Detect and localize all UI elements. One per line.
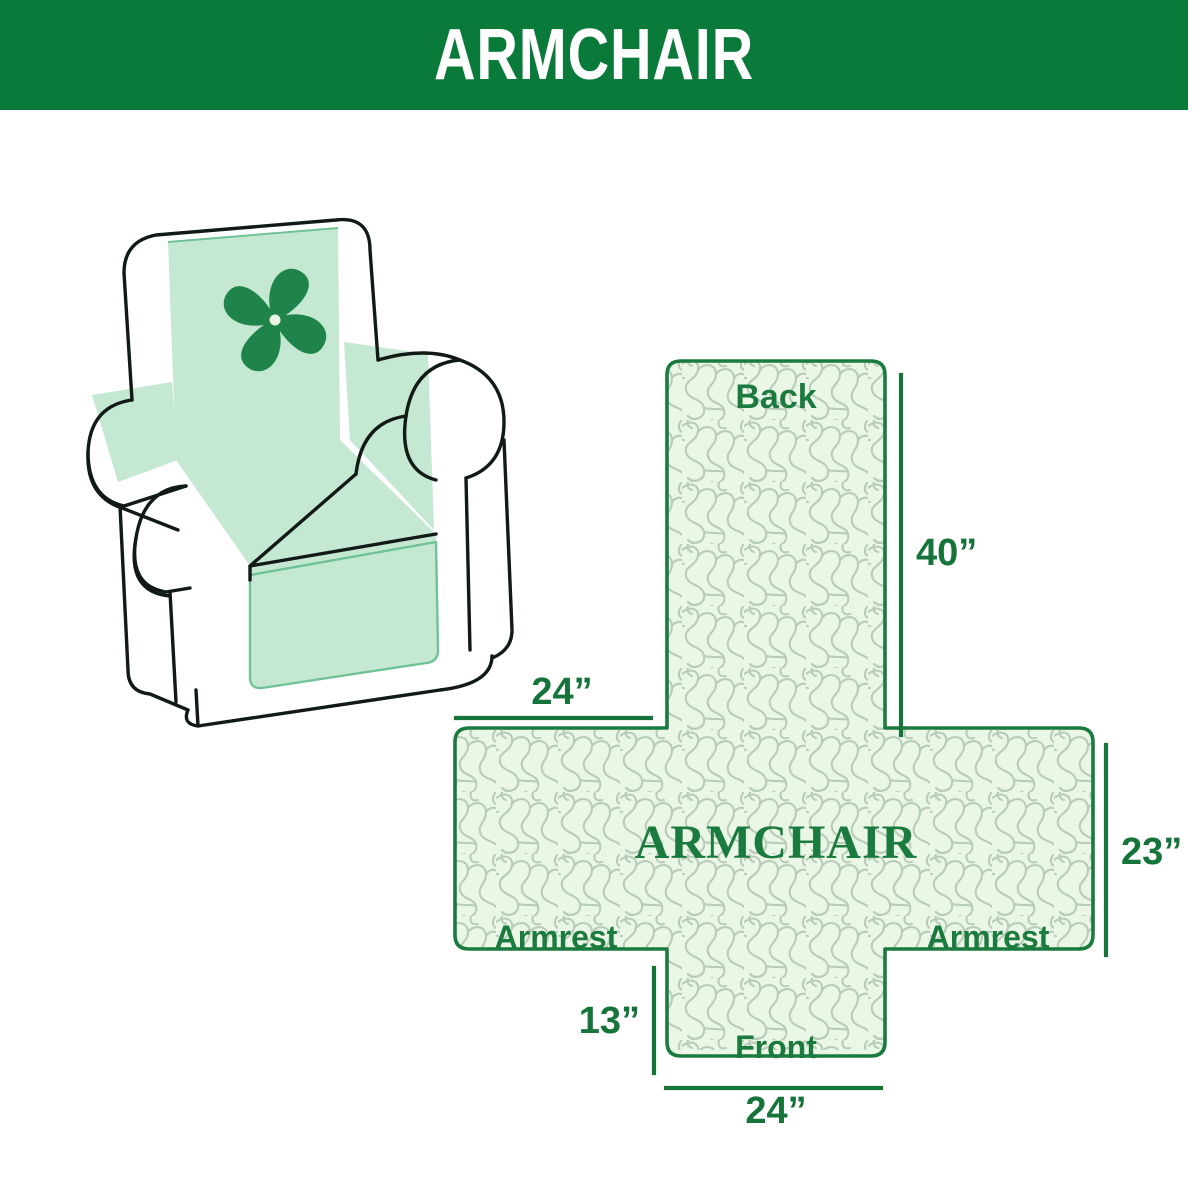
dimension-label-24-top: 24” <box>531 671 592 713</box>
label-back: Back <box>735 378 816 416</box>
diagram-canvas: Back ARMCHAIR Armrest Armrest Front 40” … <box>0 110 1200 1200</box>
label-center-armchair: ARMCHAIR <box>635 816 918 869</box>
dimension-label-23: 23” <box>1121 831 1182 873</box>
dimension-label-13: 13” <box>579 1000 640 1042</box>
dimension-label-24-bottom: 24” <box>745 1090 806 1132</box>
product-diagram: Back ARMCHAIR Armrest Armrest Front 40” … <box>0 110 1200 1200</box>
armchair-illustration <box>88 220 512 726</box>
label-front: Front <box>735 1029 817 1065</box>
label-armrest-right: Armrest <box>927 919 1050 955</box>
label-armrest-left: Armrest <box>495 919 618 955</box>
dimension-label-40: 40” <box>916 532 977 574</box>
page-title: ARMCHAIR <box>434 19 754 91</box>
chair-right-side <box>492 440 512 658</box>
header-banner: ARMCHAIR <box>0 0 1188 110</box>
